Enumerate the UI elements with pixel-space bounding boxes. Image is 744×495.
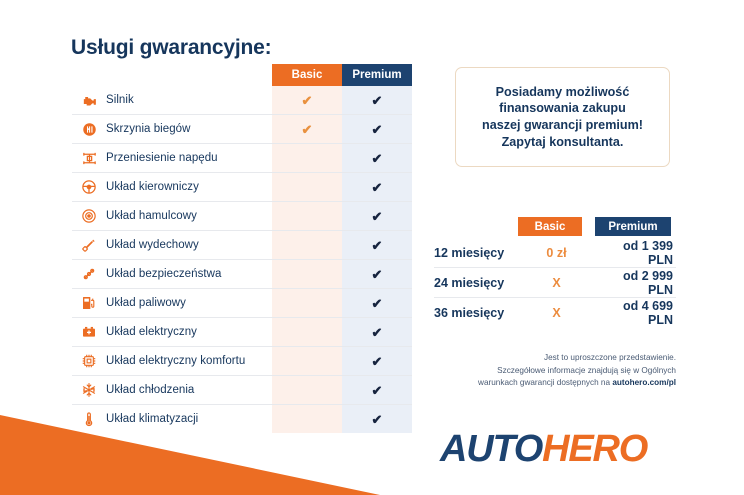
page-title: Usługi gwarancyjne: [71,36,271,60]
financing-promo-box: Posiadamy możliwość finansowania zakupu … [455,67,670,167]
table-row: Skrzynia biegów✔✔ [72,115,412,144]
service-label: Układ wydechowy [106,239,272,251]
thermometer-ac-icon [72,411,106,427]
basic-availability-cell: ✔ [272,152,342,165]
disclaimer-line-2: Szczegółowe informacje znajdują się w Og… [410,365,676,378]
disclaimer-line-3: warunkach gwarancji dostępnych na autohe… [410,377,676,390]
table-row: Układ paliwowy✔✔ [72,289,412,318]
pricing-premium-value: od 1 399 PLN [595,239,676,267]
pricing-term-label: 36 miesięcy [434,306,518,320]
table-row: Przeniesienie napędu✔✔ [72,144,412,173]
premium-availability-cell: ✔ [342,413,412,426]
comparison-body: Silnik✔✔Skrzynia biegów✔✔Przeniesienie n… [72,86,412,433]
check-icon: ✔ [372,413,383,426]
basic-availability-cell: ✔ [272,268,342,281]
exhaust-pipe-icon [72,237,106,253]
engine-icon [72,92,106,109]
pricing-header-premium: Premium [595,217,671,236]
premium-availability-cell: ✔ [342,297,412,310]
disclaimer-line-3-prefix: warunkach gwarancji dostępnych na [478,378,612,387]
check-icon: ✔ [302,94,313,107]
check-icon: ✔ [372,181,383,194]
logo-hero-part: HERO [542,428,647,470]
check-icon: ✔ [372,210,383,223]
basic-availability-cell: ✔ [272,210,342,223]
chip-comfort-icon [72,353,106,369]
premium-availability-cell: ✔ [342,94,412,107]
promo-line-4: Zapytaj konsultanta. [482,134,643,151]
premium-availability-cell: ✔ [342,123,412,136]
check-icon: ✔ [372,326,383,339]
autohero-logo: AUTOHERO [440,428,647,471]
comparison-header-row: Basic Premium [272,64,412,86]
pricing-row: 36 miesięcyXod 4 699 PLN [434,298,676,327]
table-row: Układ elektryczny komfortu✔✔ [72,347,412,376]
table-row: Silnik✔✔ [72,86,412,115]
check-icon: ✔ [372,152,383,165]
table-row: Układ elektryczny✔✔ [72,318,412,347]
check-icon: ✔ [372,297,383,310]
service-label: Układ paliwowy [106,297,272,309]
pricing-header-basic: Basic [518,217,582,236]
financing-promo-text: Posiadamy możliwość finansowania zakupu … [474,84,651,150]
steering-wheel-icon [72,179,106,195]
basic-availability-cell: ✔ [272,413,342,426]
table-row: Układ hamulcowy✔✔ [72,202,412,231]
premium-availability-cell: ✔ [342,152,412,165]
premium-availability-cell: ✔ [342,181,412,194]
table-row: Układ klimatyzacji✔✔ [72,405,412,433]
pricing-row: 12 miesięcy0 złod 1 399 PLN [434,238,676,268]
disclaimer-line-1: Jest to uproszczone przedstawienie. [410,352,676,365]
check-icon: ✔ [372,123,383,136]
promo-line-2: finansowania zakupu [482,100,643,117]
service-label: Silnik [106,94,272,106]
service-label: Układ klimatyzacji [106,413,272,425]
service-label: Przeniesienie napędu [106,152,272,164]
warranty-comparison-table: Basic Premium Silnik✔✔Skrzynia biegów✔✔P… [72,64,412,433]
table-row: Układ wydechowy✔✔ [72,231,412,260]
premium-availability-cell: ✔ [342,326,412,339]
pricing-premium-value: od 4 699 PLN [595,299,676,327]
check-icon: ✔ [372,94,383,107]
table-row: Układ kierowniczy✔✔ [72,173,412,202]
service-label: Układ chłodzenia [106,384,272,396]
gearbox-icon [72,122,106,137]
basic-availability-cell: ✔ [272,355,342,368]
premium-availability-cell: ✔ [342,239,412,252]
premium-availability-cell: ✔ [342,384,412,397]
premium-availability-cell: ✔ [342,268,412,281]
basic-availability-cell: ✔ [272,123,342,136]
table-row: Układ chłodzenia✔✔ [72,376,412,405]
basic-availability-cell: ✔ [272,384,342,397]
brake-disc-icon [72,208,106,224]
promo-line-1: Posiadamy możliwość [482,84,643,101]
disclaimer-text: Jest to uproszczone przedstawienie. Szcz… [410,352,676,390]
snowflake-cooling-icon [72,382,106,398]
premium-availability-cell: ✔ [342,355,412,368]
pricing-premium-value: od 2 999 PLN [595,269,676,297]
service-label: Układ kierowniczy [106,181,272,193]
service-label: Skrzynia biegów [106,123,272,135]
basic-availability-cell: ✔ [272,239,342,252]
pricing-term-label: 12 miesięcy [434,246,518,260]
basic-availability-cell: ✔ [272,326,342,339]
pricing-table: 12 miesięcy0 złod 1 399 PLN24 miesięcyXo… [434,238,676,327]
drivetrain-axle-icon [72,150,106,167]
basic-availability-cell: ✔ [272,181,342,194]
promo-line-3: naszej gwarancji premium! [482,117,643,134]
check-icon: ✔ [302,123,313,136]
poster-canvas: Usługi gwarancyjne: Basic Premium Silnik… [0,0,744,495]
check-icon: ✔ [372,355,383,368]
check-icon: ✔ [372,239,383,252]
pricing-header-row: Basic Premium [434,217,674,236]
basic-availability-cell: ✔ [272,94,342,107]
pricing-term-label: 24 miesięcy [434,276,518,290]
fuel-pump-icon [72,295,106,311]
autohero-domain-link[interactable]: autohero.com/pl [612,378,676,387]
pricing-basic-value: 0 zł [518,246,595,260]
seatbelt-safety-icon [72,266,106,282]
pricing-basic-value: X [518,306,595,320]
service-label: Układ elektryczny komfortu [106,355,272,367]
logo-auto-part: AUTO [440,428,542,470]
premium-availability-cell: ✔ [342,210,412,223]
service-label: Układ elektryczny [106,326,272,338]
pricing-basic-value: X [518,276,595,290]
table-row: Układ bezpieczeństwa✔✔ [72,260,412,289]
comparison-header-premium: Premium [342,64,412,86]
service-label: Układ hamulcowy [106,210,272,222]
service-label: Układ bezpieczeństwa [106,268,272,280]
car-battery-icon [72,324,106,340]
check-icon: ✔ [372,384,383,397]
pricing-row: 24 miesięcyXod 2 999 PLN [434,268,676,298]
comparison-header-basic: Basic [272,64,342,86]
basic-availability-cell: ✔ [272,297,342,310]
check-icon: ✔ [372,268,383,281]
